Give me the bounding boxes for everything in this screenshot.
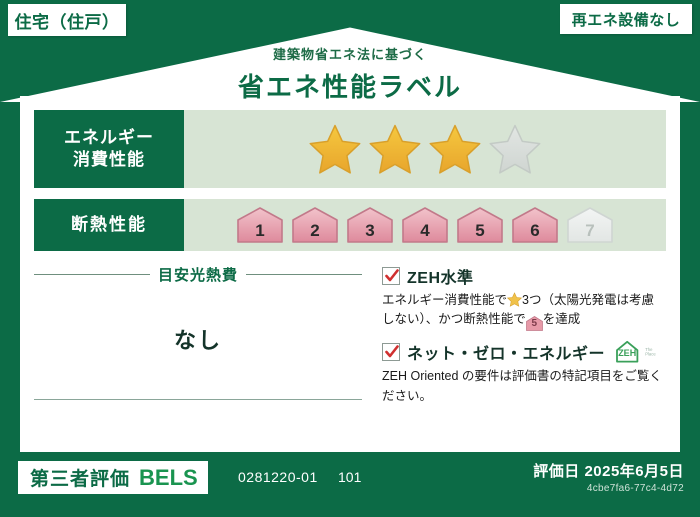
star-rating xyxy=(184,110,666,188)
insulation-badge-value: 4 xyxy=(420,221,429,241)
star-icon-filled xyxy=(428,123,482,175)
utility-cost-heading: 目安光熱費 xyxy=(34,264,362,285)
star-icon-empty xyxy=(488,123,542,175)
evaluation-date-value: 2025年6月5日 xyxy=(584,463,684,480)
zeh-standard-title: ZEH水準 xyxy=(407,264,474,288)
evaluation-date: 評価日 2025年6月5日 xyxy=(533,460,684,481)
zeh-panel: ZEH水準 エネルギー消費性能で3つ（太陽光発電は考慮しない）、かつ断熱性能で5… xyxy=(374,262,666,422)
zeh-standard-header: ZEH水準 xyxy=(382,264,666,288)
tab-building-type[interactable]: 住宅（住戸） xyxy=(8,4,126,36)
insulation-badge-value: 6 xyxy=(530,221,539,241)
certificate-number: 0281220-01 xyxy=(238,469,318,485)
insulation-badge-inline: 5 xyxy=(526,316,543,331)
bels-energy-label: 住宅（住戸） 再エネ設備なし 建築物省エネ法に基づく 省エネ性能ラベル エネルギ… xyxy=(0,0,700,517)
utility-cost-bottom-rule xyxy=(34,399,362,400)
insulation-badge-filled: 4 xyxy=(401,206,449,244)
insulation-badge-value: 3 xyxy=(365,221,374,241)
title-main: 省エネ性能ラベル xyxy=(0,67,700,104)
zeh-desc-part1: エネルギー消費性能で xyxy=(382,293,507,307)
zeh-desc-part3: を達成 xyxy=(543,312,581,326)
page-title: 建築物省エネ法に基づく 省エネ性能ラベル xyxy=(0,44,700,104)
rule-left xyxy=(34,274,150,275)
zeh-standard-description: エネルギー消費性能で3つ（太陽光発電は考慮しない）、かつ断熱性能で5を達成 xyxy=(382,291,666,331)
zeh-net-zero-header: ネット・ゼロ・エネルギー ZEH The Place xyxy=(382,340,666,364)
check-icon xyxy=(384,344,400,360)
insulation-badge-filled: 5 xyxy=(456,206,504,244)
utility-cost-value: なし xyxy=(34,323,362,355)
insulation-badge-empty: 7 xyxy=(566,206,614,244)
zeh-standard-checkbox[interactable] xyxy=(382,267,400,285)
bels-jp-label: 第三者評価 xyxy=(30,464,130,491)
insulation-badge-inline-value: 5 xyxy=(531,318,537,329)
insulation-performance-label: 断熱性能 xyxy=(34,199,184,251)
lower-section: 目安光熱費 なし ZEH水準 xyxy=(34,262,666,422)
star-icon-filled xyxy=(308,123,362,175)
evaluation-hash: 4cbe7fa6-77c4-4d72 xyxy=(533,483,684,494)
rule-right xyxy=(246,274,362,275)
zeh-net-zero-checkbox[interactable] xyxy=(382,343,400,361)
energy-label-line2: 消費性能 xyxy=(73,149,145,171)
insulation-performance-row: 断熱性能 1234567 xyxy=(34,199,666,251)
title-subtitle: 建築物省エネ法に基づく xyxy=(0,44,700,63)
energy-performance-label: エネルギー 消費性能 xyxy=(34,110,184,188)
zeh-net-zero-title: ネット・ゼロ・エネルギー xyxy=(407,340,605,364)
energy-performance-row: エネルギー 消費性能 xyxy=(34,110,666,188)
label-content: エネルギー 消費性能 断熱性能 1234567 目安光熱費 xyxy=(20,104,680,452)
insulation-grade-scale: 1234567 xyxy=(184,199,666,251)
evaluation-info: 評価日 2025年6月5日 4cbe7fa6-77c4-4d72 xyxy=(533,460,684,494)
zeh-item-net-zero: ネット・ゼロ・エネルギー ZEH The Place ZEH Oriented … xyxy=(382,340,666,406)
insulation-badge-filled: 3 xyxy=(346,206,394,244)
zeh-logo-icon: ZEH The Place xyxy=(614,340,656,364)
bels-badge: 第三者評価 BELS xyxy=(18,461,208,494)
tab-renewable-equipment[interactable]: 再エネ設備なし xyxy=(560,4,692,34)
zeh-item-standard: ZEH水準 エネルギー消費性能で3つ（太陽光発電は考慮しない）、かつ断熱性能で5… xyxy=(382,264,666,331)
insulation-badge-filled: 6 xyxy=(511,206,559,244)
insulation-badge-value: 7 xyxy=(585,221,594,241)
energy-label-line1: エネルギー xyxy=(64,127,154,149)
insulation-badge-value: 1 xyxy=(255,221,264,241)
svg-text:ZEH: ZEH xyxy=(618,349,636,359)
bels-en-label: BELS xyxy=(139,465,198,491)
zeh-net-zero-description: ZEH Oriented の要件は評価書の特記項目をご覧ください。 xyxy=(382,367,666,406)
certificate-sequence: 101 xyxy=(338,469,361,485)
insulation-label-text: 断熱性能 xyxy=(71,214,147,236)
check-icon xyxy=(384,268,400,284)
insulation-badge-filled: 2 xyxy=(291,206,339,244)
evaluation-date-label: 評価日 xyxy=(533,463,580,480)
insulation-badge-filled: 1 xyxy=(236,206,284,244)
star-icon-filled xyxy=(368,123,422,175)
utility-cost-heading-text: 目安光熱費 xyxy=(158,264,238,285)
insulation-badge-value: 2 xyxy=(310,221,319,241)
utility-cost-panel: 目安光熱費 なし xyxy=(34,262,374,422)
svg-text:Place: Place xyxy=(645,352,656,357)
label-footer: 第三者評価 BELS 0281220-01 101 評価日 2025年6月5日 … xyxy=(0,453,700,517)
insulation-badge-value: 5 xyxy=(475,221,484,241)
star-icon-inline xyxy=(507,292,522,307)
